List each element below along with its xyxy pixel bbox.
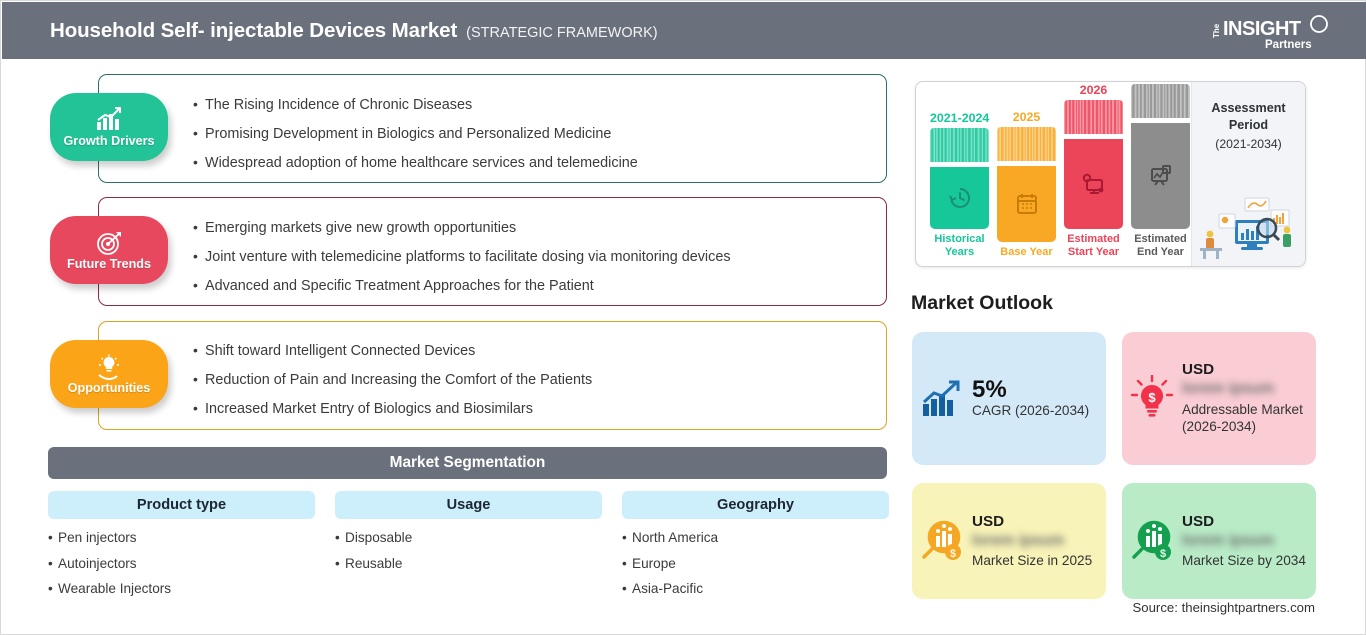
segmentation-column-product-type: Product type Pen injectors Autoinjectors… [48,491,315,596]
badge-label: Opportunities [68,381,151,395]
header-title-group: Household Self- injectable Devices Marke… [50,19,658,43]
page-header: Household Self- injectable Devices Marke… [2,2,1366,59]
card-body: USD lorem ipsum Addressable Market (2026… [1182,361,1316,435]
bar-caption: Historical Years [930,233,989,258]
bar-stripes [1064,100,1123,134]
outlook-card-cagr: 5% CAGR (2026-2034) [912,332,1106,465]
segmentation-items: Pen injectors Autoinjectors Wearable Inj… [48,531,315,596]
svg-text:$: $ [1160,548,1166,560]
assessment-period-title: Assessment Period [1192,100,1305,133]
assessment-bars: 2021-2024 Historical Years 2025 [916,82,1193,266]
list-item: The Rising Incidence of Chronic Diseases [193,97,638,112]
list-item: Europe [622,557,889,571]
outlook-card-market-size-2034: $ USD lorem ipsum Market Size by 2034 [1122,483,1316,599]
market-segmentation-title: Market Segmentation [48,447,887,479]
segmentation-items: North America Europe Asia-Pacific [622,531,889,596]
badge-opportunities[interactable]: Opportunities [50,340,168,408]
bar-stripes [997,127,1056,161]
list-item: Reduction of Pain and Increasing the Com… [193,372,592,387]
assessment-period-range: (2021-2034) [1192,137,1305,151]
card-note: Market Size in 2025 [972,552,1092,569]
bar-solid [930,167,989,229]
svg-text:$: $ [1148,390,1156,405]
card-note: Addressable Market (2026-2034) [1182,401,1308,436]
bar-stripes [930,128,989,162]
assessment-bar-historical: 2021-2024 Historical Years [930,111,989,258]
list-item: Shift toward Intelligent Connected Devic… [193,343,592,358]
badge-future-trends[interactable]: Future Trends [50,216,168,284]
card-icon-wrap [912,380,972,418]
badge-label: Future Trends [67,257,151,271]
list-item: North America [622,531,889,545]
segmentation-items: Disposable Reusable [335,531,602,570]
svg-text:The: The [1212,23,1221,38]
bar-caption: Estimated Start Year [1064,233,1123,258]
list-item: Wearable Injectors [48,582,315,596]
lightbulb-dollar-icon: $ [1130,375,1174,423]
currency-label: USD [972,513,1092,530]
card-body: USD lorem ipsum Market Size by 2034 [1182,513,1314,570]
bar-chart-arrow-icon [921,380,963,418]
bar-year-label: 2021-2024 [930,111,989,125]
redacted-value: lorem ipsum [972,531,1092,550]
list-item: Promising Development in Biologics and P… [193,126,638,141]
list-item: Reusable [335,557,602,571]
cagr-note: CAGR (2026-2034) [972,402,1089,419]
card-icon-wrap: $ [912,518,972,564]
svg-text:Partners: Partners [1265,39,1312,51]
market-outlook-title: Market Outlook [911,292,1053,315]
bar-caption: Estimated End Year [1131,233,1190,258]
badge-growth-drivers[interactable]: Growth Drivers [50,93,168,161]
opportunities-list: Shift toward Intelligent Connected Devic… [193,343,592,416]
cagr-value: 5% [972,377,1089,402]
lightbulb-hand-icon [94,354,124,380]
redacted-value: lorem ipsum [1182,531,1306,550]
infographic-page: Household Self- injectable Devices Marke… [0,0,1366,635]
badge-label: Growth Drivers [64,134,155,148]
segmentation-column-geography: Geography North America Europe Asia-Paci… [622,491,889,596]
magnifier-bars-dollar-icon: $ [1129,518,1175,564]
card-icon-wrap: $ [1122,518,1182,564]
svg-text:INSIGHT: INSIGHT [1223,18,1301,40]
list-item: Advanced and Specific Treatment Approach… [193,278,731,293]
column-header: Geography [622,491,889,519]
list-item: Increased Market Entry of Biologics and … [193,401,592,416]
list-item: Widespread adoption of home healthcare s… [193,155,638,170]
list-item: Emerging markets give new growth opportu… [193,220,731,235]
bar-year-label: 2025 [997,110,1056,124]
analytics-dashboard-illustration-icon [1195,190,1303,262]
assessment-bar-estimated-end: 2034 Estimated End Year [1131,81,1190,258]
column-header: Product type [48,491,315,519]
growth-drivers-list: The Rising Incidence of Chronic Diseases… [193,97,638,170]
assessment-bar-estimated-start: 2026 Estimated Start Year [1064,83,1123,258]
list-item: Disposable [335,531,602,545]
column-header: Usage [335,491,602,519]
list-item: Autoinjectors [48,557,315,571]
bar-solid [1064,139,1123,229]
card-body: USD lorem ipsum Market Size in 2025 [972,513,1100,570]
image-monitor-icon [1148,163,1174,189]
history-clock-icon [947,185,973,211]
svg-text:$: $ [950,548,956,560]
redacted-value: lorem ipsum [1182,379,1308,398]
settings-monitor-icon [1081,171,1107,197]
insight-partners-logo-icon: The INSIGHT Partners [1207,10,1339,52]
bar-caption: Base Year [997,246,1056,258]
outlook-card-addressable-market: $ USD lorem ipsum Addressable Market (20… [1122,332,1316,465]
future-trends-list: Emerging markets give new growth opportu… [193,220,731,293]
target-dart-icon [94,230,124,256]
bar-year-label: 2026 [1064,83,1123,97]
bar-solid [1131,123,1190,229]
currency-label: USD [1182,513,1306,530]
bar-chart-growth-icon [94,107,124,133]
page-subtitle: (STRATEGIC FRAMEWORK) [466,25,657,41]
list-item: Joint venture with telemedicine platform… [193,249,731,264]
outlook-card-market-size-2025: $ USD lorem ipsum Market Size in 2025 [912,483,1106,599]
page-title: Household Self- injectable Devices Marke… [50,19,457,43]
bar-solid [997,166,1056,242]
list-item: Asia-Pacific [622,582,889,596]
assessment-period-widget: 2021-2024 Historical Years 2025 [915,81,1306,267]
assessment-bar-base-year: 2025 Base Year [997,110,1056,258]
card-body: 5% CAGR (2026-2034) [972,377,1097,420]
bar-stripes [1131,84,1190,118]
magnifier-bars-dollar-icon: $ [919,518,965,564]
calendar-icon [1014,191,1040,217]
card-note: Market Size by 2034 [1182,552,1306,569]
source-attribution: Source: theinsightpartners.com [1132,600,1315,615]
card-icon-wrap: $ [1122,375,1182,423]
list-item: Pen injectors [48,531,315,545]
assessment-side-panel: Assessment Period (2021-2034) [1191,82,1305,266]
segmentation-column-usage: Usage Disposable Reusable [335,491,602,570]
currency-label: USD [1182,361,1308,378]
